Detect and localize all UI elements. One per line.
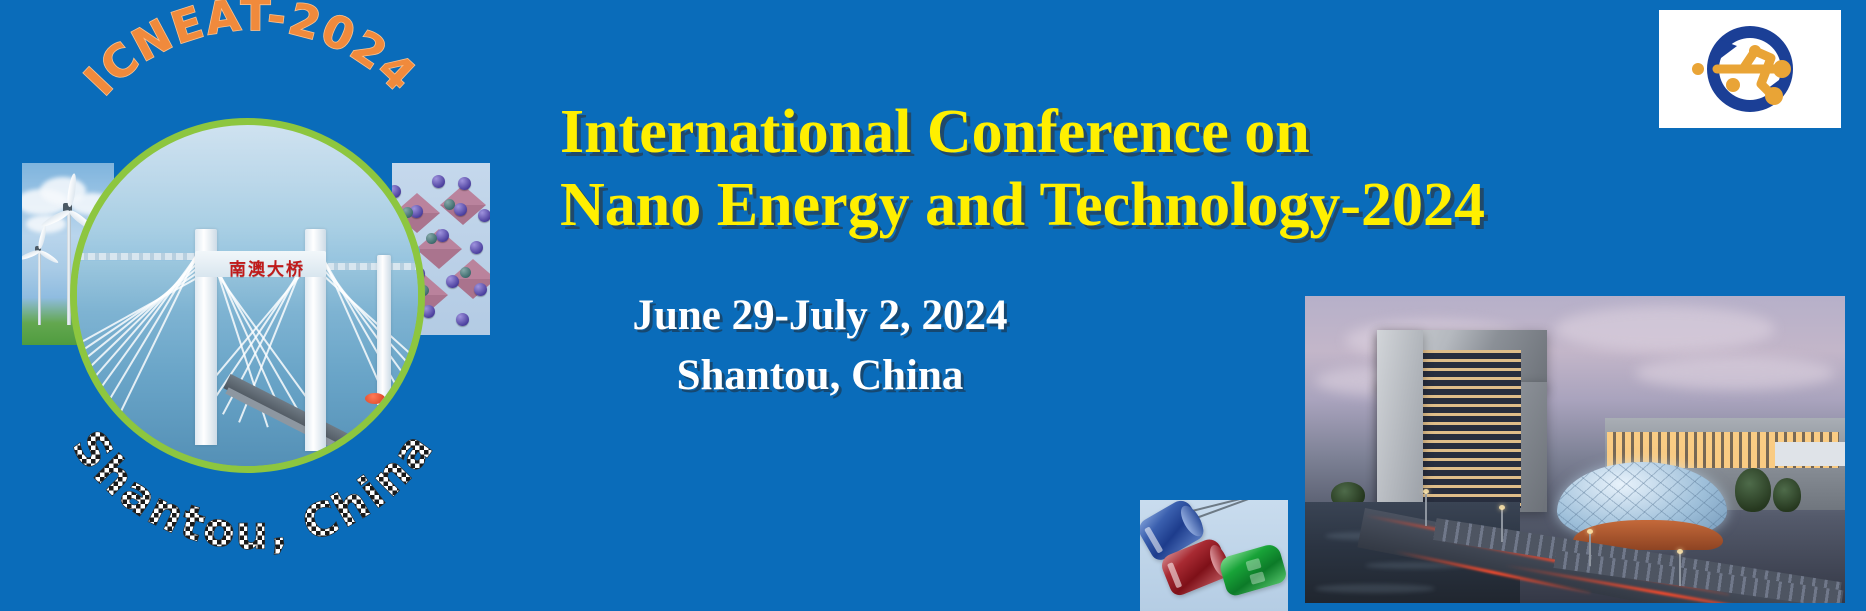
conference-emblem: 南澳大桥 ICNEAT-2024 Shantou [10, 0, 490, 611]
campus-rendering-photo [1305, 296, 1845, 603]
event-location: Shantou, China [560, 346, 1080, 405]
organizer-logo[interactable] [1659, 10, 1841, 128]
page-title-line2: Nano Energy and Technology-2024 [560, 169, 1400, 242]
banner-text-block: International Conference on Nano Energy … [560, 96, 1400, 405]
bridge-name-label: 南澳大桥 [229, 255, 305, 280]
conference-banner: 南澳大桥 ICNEAT-2024 Shantou [0, 0, 1866, 611]
svg-text:ICNEAT-2024: ICNEAT-2024 [75, 0, 426, 105]
event-dates: June 29-July 2, 2024 [560, 286, 1080, 345]
arc-top-label: ICNEAT-2024 [75, 0, 426, 105]
nanao-bridge-photo: 南澳大桥 [70, 118, 425, 473]
capacitor-thumbnail [1140, 500, 1288, 611]
event-details: June 29-July 2, 2024 Shantou, China [560, 286, 1080, 405]
logo-mark-icon [1675, 18, 1825, 120]
page-title-line1: International Conference on [560, 96, 1400, 169]
